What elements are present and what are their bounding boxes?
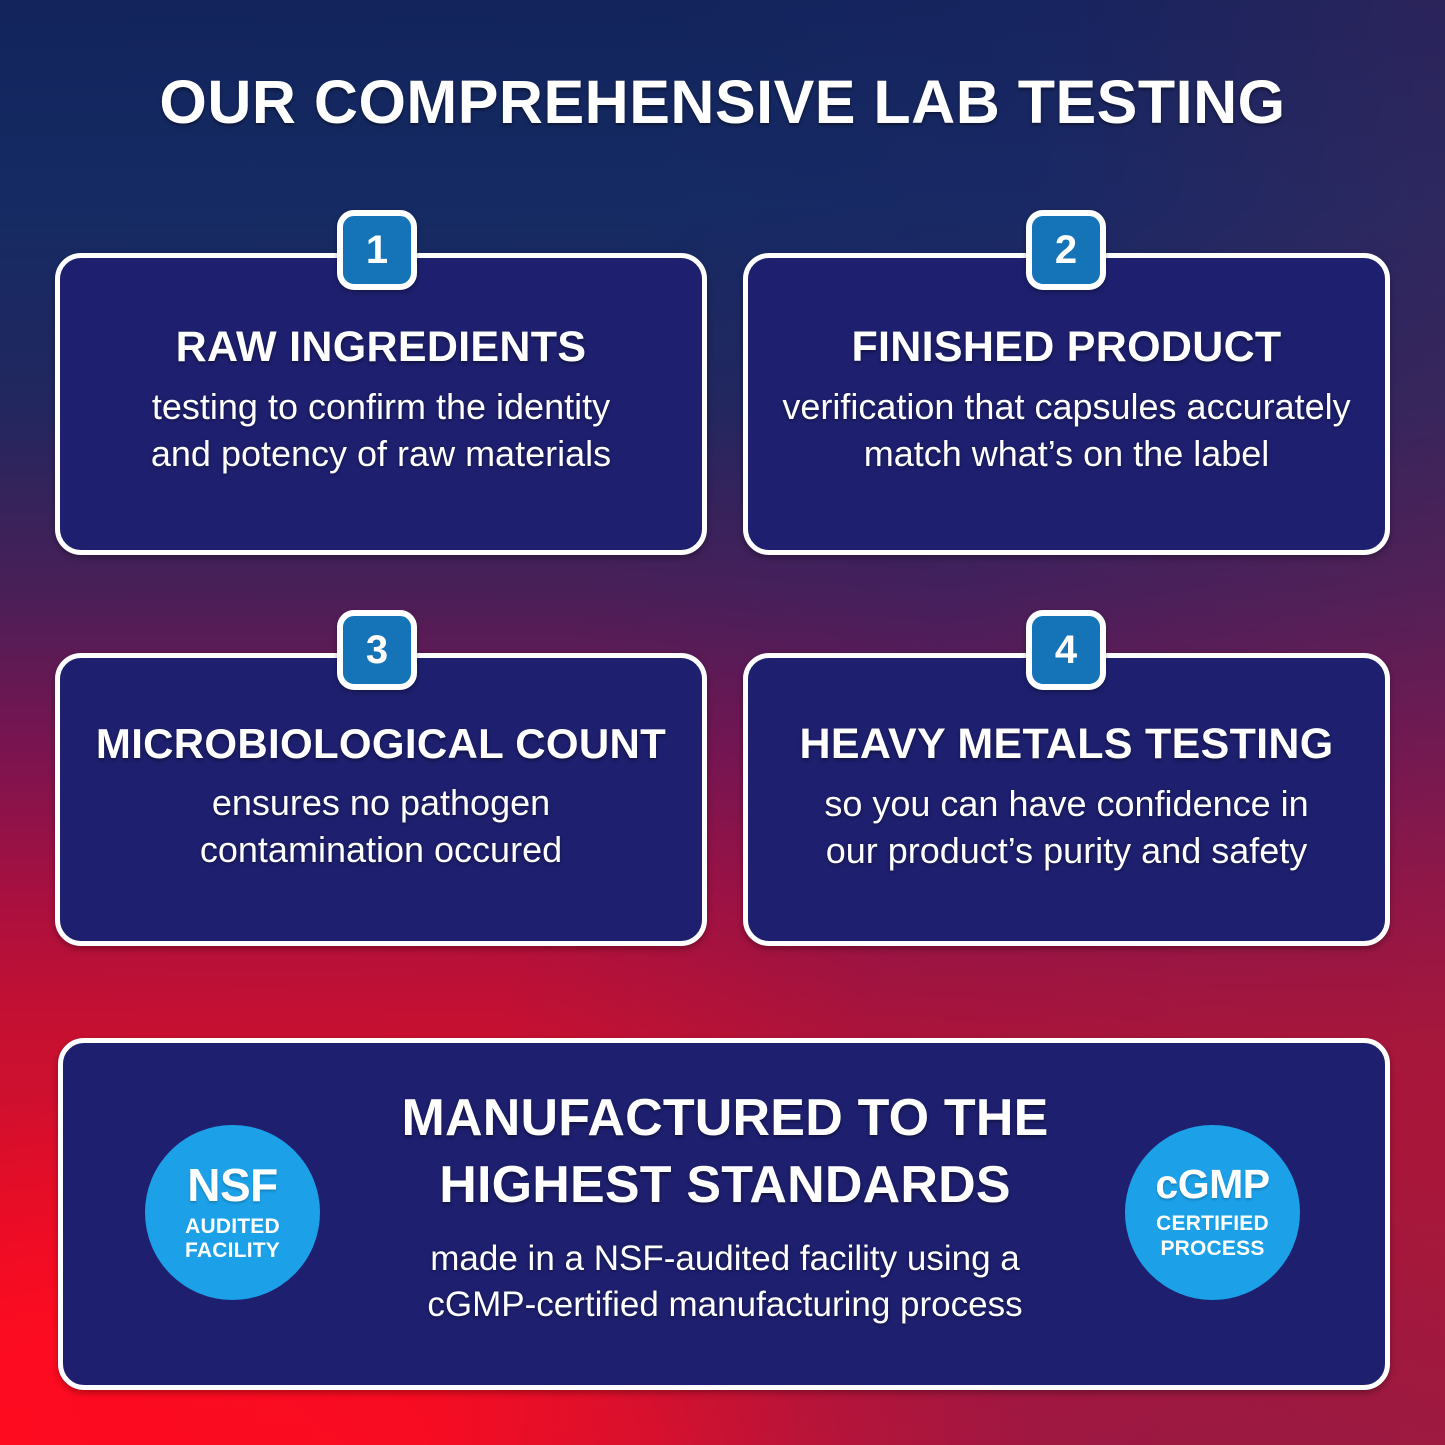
card-subtext-1-line1: testing to confirm the identity [77, 384, 685, 431]
card-heading-3: MICROBIOLOGICAL COUNT [77, 722, 685, 766]
panel-heading-line2: HIGHEST STANDARDS [330, 1152, 1120, 1219]
nsf-seal-subtitle: AUDITED FACILITY [185, 1215, 280, 1264]
page-title: OUR COMPREHENSIVE LAB TESTING [0, 72, 1445, 133]
card-subtext-4-line2: our product’s purity and safety [765, 828, 1368, 875]
card-body-2: FINISHED PRODUCT verification that capsu… [743, 325, 1390, 478]
step-badge-2: 2 [1026, 210, 1106, 290]
cgmp-seal-title: cGMP [1155, 1164, 1269, 1205]
card-subtext-1-line2: and potency of raw materials [77, 431, 685, 478]
nsf-seal-subtitle-line2: FACILITY [185, 1239, 280, 1263]
nsf-seal-title: NSF [187, 1162, 278, 1208]
lab-testing-infographic: OUR COMPREHENSIVE LAB TESTING 1 RAW INGR… [0, 0, 1445, 1445]
cgmp-seal-subtitle-line2: PROCESS [1156, 1237, 1269, 1261]
card-subtext-2-line1: verification that capsules accurately [765, 384, 1368, 431]
step-badge-4: 4 [1026, 610, 1106, 690]
panel-heading-line1: MANUFACTURED TO THE [330, 1085, 1120, 1152]
step-badge-1: 1 [337, 210, 417, 290]
card-subtext-2-line2: match what’s on the label [765, 431, 1368, 478]
cgmp-seal-subtitle-line1: CERTIFIED [1156, 1212, 1269, 1236]
card-body-1: RAW INGREDIENTS testing to confirm the i… [55, 325, 707, 478]
card-subtext-4-line1: so you can have confidence in [765, 781, 1368, 828]
card-body-4: HEAVY METALS TESTING so you can have con… [743, 722, 1390, 875]
panel-text-block: MANUFACTURED TO THE HIGHEST STANDARDS ma… [330, 1085, 1120, 1328]
card-subtext-3-line2: contamination occured [77, 827, 685, 874]
card-subtext-3: ensures no pathogen contamination occure… [77, 780, 685, 874]
card-subtext-1: testing to confirm the identity and pote… [77, 384, 685, 478]
nsf-seal-subtitle-line1: AUDITED [185, 1215, 280, 1239]
panel-subtext-line2: cGMP-certified manufacturing process [330, 1282, 1120, 1328]
panel-subtext-line1: made in a NSF-audited facility using a [330, 1236, 1120, 1282]
nsf-audited-facility-seal: NSF AUDITED FACILITY [145, 1125, 320, 1300]
card-body-3: MICROBIOLOGICAL COUNT ensures no pathoge… [55, 722, 707, 874]
card-subtext-3-line1: ensures no pathogen [77, 780, 685, 827]
card-heading-4: HEAVY METALS TESTING [765, 722, 1368, 767]
cgmp-seal-subtitle: CERTIFIED PROCESS [1156, 1212, 1269, 1261]
panel-heading: MANUFACTURED TO THE HIGHEST STANDARDS [330, 1085, 1120, 1218]
card-subtext-2: verification that capsules accurately ma… [765, 384, 1368, 478]
card-subtext-4: so you can have confidence in our produc… [765, 781, 1368, 875]
panel-subtext: made in a NSF-audited facility using a c… [330, 1236, 1120, 1328]
cgmp-certified-process-seal: cGMP CERTIFIED PROCESS [1125, 1125, 1300, 1300]
card-heading-1: RAW INGREDIENTS [77, 325, 685, 370]
card-heading-2: FINISHED PRODUCT [765, 325, 1368, 370]
step-badge-3: 3 [337, 610, 417, 690]
